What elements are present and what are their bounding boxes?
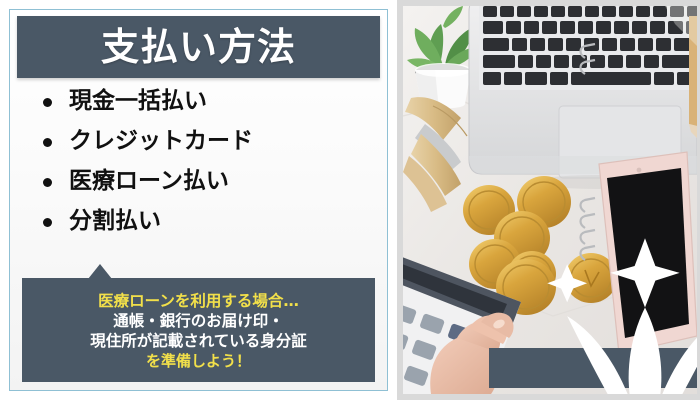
page-title: 支払い方法	[101, 28, 296, 66]
slide-root: 支払い方法 現金一括払い クレジットカード 医療ローン払い 分割払い	[0, 0, 700, 400]
list-item-label: クレジットカード	[69, 128, 253, 154]
callout-pointer-icon	[88, 264, 112, 279]
list-item: 分割払い	[43, 210, 380, 233]
payment-method-list: 現金一括払い クレジットカード 医療ローン払い 分割払い	[17, 78, 380, 233]
left-content-panel: 支払い方法 現金一括払い クレジットカード 医療ローン払い 分割払い	[0, 0, 397, 400]
bullet-dot-icon	[43, 98, 52, 107]
callout-line-3: 現住所が記載されている身分証	[30, 332, 367, 352]
list-item: 現金一括払い	[43, 90, 380, 113]
list-item-label: 分割払い	[69, 208, 161, 234]
list-item: 医療ローン払い	[43, 170, 380, 193]
blue-border-frame: 支払い方法 現金一括払い クレジットカード 医療ローン払い 分割払い	[9, 9, 388, 391]
callout-line-1: 医療ローンを利用する場合…	[30, 292, 367, 312]
clinic-logo-bar: REGINA CLINIC HOMME 渋谷院	[489, 348, 697, 388]
callout-line-4: を準備しよう！	[30, 352, 367, 371]
list-item: クレジットカード	[43, 130, 380, 153]
desk-flatlay-photo: REGINA CLINIC HOMME 渋谷院	[403, 6, 697, 394]
bullet-dot-icon	[43, 178, 52, 187]
bullet-dot-icon	[43, 138, 52, 147]
panel-title-bar: 支払い方法	[17, 16, 380, 78]
callout-bubble: 医療ローンを利用する場合… 通帳・銀行のお届け印・ 現住所が記載されている身分証…	[22, 278, 375, 382]
lotus-crown-icon	[498, 174, 697, 394]
bullet-dot-icon	[43, 218, 52, 227]
callout-line-2: 通帳・銀行のお届け印・	[30, 312, 367, 332]
list-item-label: 医療ローン払い	[69, 168, 229, 194]
list-item-label: 現金一括払い	[69, 88, 207, 114]
